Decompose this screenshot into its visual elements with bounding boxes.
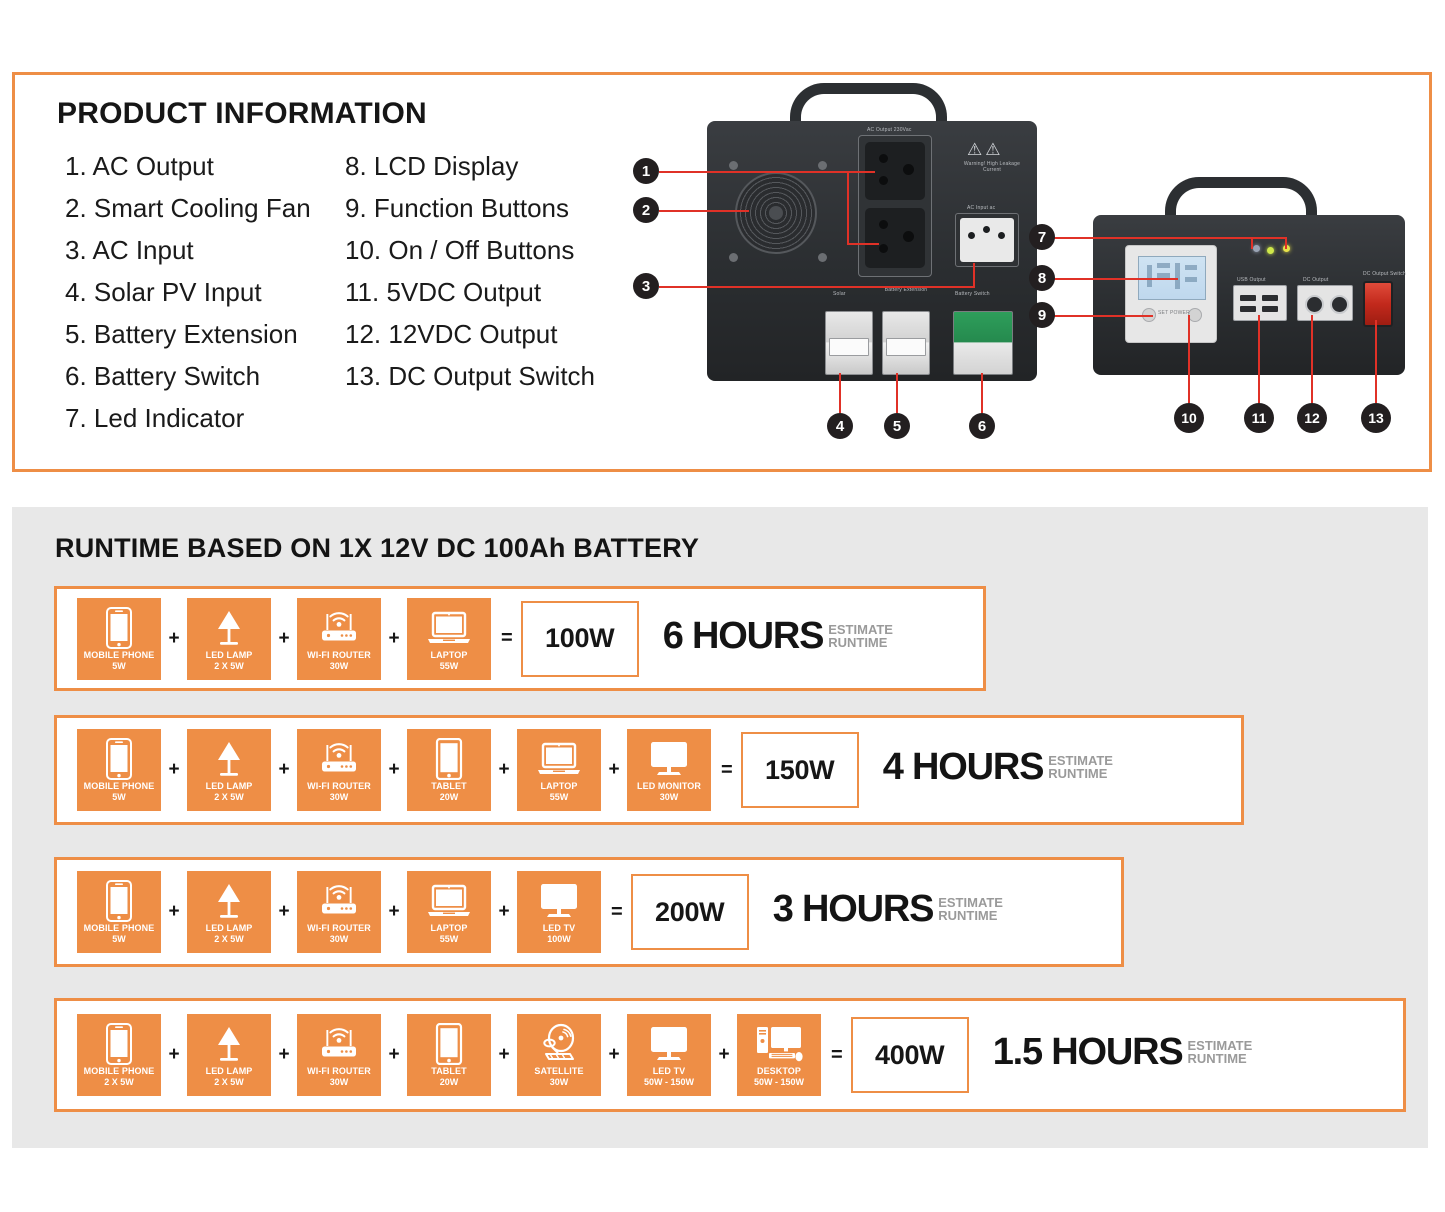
device-tile-name: LED MONITOR <box>637 781 701 792</box>
device-tile-watt: 50W - 150W <box>644 1077 694 1088</box>
device-tile: LED TV100W <box>517 871 601 953</box>
battery-switch-label: Battery Switch <box>955 291 990 297</box>
device-tile: LED LAMP2 X 5W <box>187 1014 271 1096</box>
dc-output-label: DC Output <box>1303 277 1328 283</box>
screw <box>818 161 827 170</box>
product-front-view-image: SET POWER USB Output DC Output DC Output… <box>1015 165 1435 455</box>
callout-leader-1 <box>659 171 875 173</box>
list-item: 7. Led Indicator <box>65 397 355 439</box>
runtime-row-1: MOBILE PHONE5W+ LED LAMP2 X 5W+ WI-FI RO… <box>54 586 986 691</box>
callout-badge-7: 7 <box>1029 224 1055 250</box>
mobile-phone-icon <box>77 606 161 650</box>
plus-separator: + <box>381 759 407 781</box>
dc-output-switch-label: DC Output Switch <box>1363 271 1406 277</box>
runtime-row-2: MOBILE PHONE5W+ LED LAMP2 X 5W+ WI-FI RO… <box>54 715 1244 825</box>
callout-leader-7 <box>1053 237 1253 239</box>
equals-sign: = <box>721 759 733 782</box>
device-tile: WI-FI ROUTER30W <box>297 871 381 953</box>
list-item: 1. AC Output <box>65 145 355 187</box>
device-tile: WI-FI ROUTER30W <box>297 1014 381 1096</box>
device-tile-name: LED LAMP <box>206 1066 253 1077</box>
dc-output-switch[interactable] <box>1363 281 1393 327</box>
device-tile-watt: 5W <box>112 934 126 945</box>
led-lamp-icon <box>187 606 271 650</box>
usb-5vdc-output[interactable] <box>1233 285 1287 321</box>
wifi-router-icon <box>297 1022 381 1066</box>
device-tile-watt: 2 X 5W <box>214 934 244 945</box>
screw <box>729 161 738 170</box>
ac-input-label: AC Input ac <box>967 205 995 211</box>
device-tile: LAPTOP55W <box>517 729 601 811</box>
plus-separator: + <box>491 1044 517 1066</box>
runtime-row-4: MOBILE PHONE2 X 5W+ LED LAMP2 X 5W+ WI-F… <box>54 998 1406 1112</box>
callout-leader-8 <box>1053 278 1178 280</box>
total-watt-value: 200W <box>655 897 724 928</box>
plus-separator: + <box>161 759 187 781</box>
device-tile-watt: 5W <box>112 792 126 803</box>
device-tile-watt: 50W - 150W <box>754 1077 804 1088</box>
led-indicator-1-icon <box>1253 245 1260 252</box>
plus-separator: + <box>711 1044 737 1066</box>
callout-badge-11: 11 <box>1244 403 1274 433</box>
callout-leader-9 <box>1053 315 1153 317</box>
device-tile: MOBILE PHONE5W <box>77 598 161 680</box>
total-watt-value: 100W <box>545 623 614 654</box>
device-tile-name: SATELLITE <box>534 1066 583 1077</box>
list-item: 11. 5VDC Output <box>345 271 645 313</box>
runtime-section-title: RUNTIME BASED ON 1X 12V DC 100Ah BATTERY <box>55 533 699 564</box>
runtime-hours-value: 4 HOURS <box>883 746 1044 789</box>
plus-separator: + <box>271 1044 297 1066</box>
plus-separator: + <box>161 901 187 923</box>
wifi-router-icon <box>297 606 381 650</box>
total-watt-box: 200W <box>631 874 749 950</box>
device-tile: LED LAMP2 X 5W <box>187 598 271 680</box>
callout-badge-13: 13 <box>1361 403 1391 433</box>
callout-badge-12: 12 <box>1297 403 1327 433</box>
device-tile-name: WI-FI ROUTER <box>307 923 371 934</box>
device-tile-watt: 20W <box>440 1077 459 1088</box>
runtime-hours-group: 3 HOURSESTIMATERUNTIME <box>773 888 1003 936</box>
led-indicator-2-icon <box>1267 247 1274 254</box>
callout-leader-2 <box>659 210 749 212</box>
product-list-column-right: 8. LCD Display 9. Function Buttons 10. O… <box>345 145 645 397</box>
plus-separator: + <box>601 759 627 781</box>
device-tile-watt: 20W <box>440 792 459 803</box>
infographic-page: PRODUCT INFORMATION 1. AC Output 2. Smar… <box>0 0 1445 1212</box>
list-item: 2. Smart Cooling Fan <box>65 187 355 229</box>
equals-sign: = <box>611 901 623 924</box>
runtime-hours-value: 1.5 HOURS <box>993 1031 1183 1074</box>
laptop-icon <box>407 879 491 923</box>
callout-badge-4: 4 <box>827 413 853 439</box>
total-watt-box: 100W <box>521 601 639 677</box>
ac-output-group <box>858 135 932 277</box>
callout-leader-1c <box>847 243 879 245</box>
device-tile-name: MOBILE PHONE <box>84 923 155 934</box>
lcd-bezel: SET POWER <box>1125 245 1217 343</box>
battery-extension-breaker[interactable] <box>882 311 930 375</box>
plus-separator: + <box>271 628 297 650</box>
estimate-runtime-label: ESTIMATERUNTIME <box>828 623 893 649</box>
product-information-title: PRODUCT INFORMATION <box>57 97 427 131</box>
device-tile-name: LED LAMP <box>206 650 253 661</box>
device-tile: WI-FI ROUTER30W <box>297 729 381 811</box>
callout-leader-10 <box>1188 315 1190 403</box>
led-lamp-icon <box>187 879 271 923</box>
callout-badge-9: 9 <box>1029 302 1055 328</box>
device-tile: TABLET20W <box>407 1014 491 1096</box>
runtime-section: RUNTIME BASED ON 1X 12V DC 100Ah BATTERY… <box>12 507 1428 1148</box>
total-watt-box: 400W <box>851 1017 969 1093</box>
mobile-phone-icon <box>77 1022 161 1066</box>
estimate-runtime-label: ESTIMATERUNTIME <box>1048 754 1113 780</box>
device-tile-name: LAPTOP <box>431 650 468 661</box>
led-monitor-icon <box>627 737 711 781</box>
callout-leader-3 <box>659 286 975 288</box>
list-item: 12. 12VDC Output <box>345 313 645 355</box>
device-tile-watt: 30W <box>330 934 349 945</box>
device-tile-name: LAPTOP <box>541 781 578 792</box>
callout-leader-12 <box>1311 315 1313 403</box>
product-rear-view-image: AC Output 230Vac ⚠⚠ Warning! High Leakag… <box>615 75 1035 455</box>
plus-separator: + <box>381 628 407 650</box>
tablet-icon <box>407 737 491 781</box>
device-tile: LED LAMP2 X 5W <box>187 729 271 811</box>
total-watt-value: 400W <box>875 1040 944 1071</box>
device-tile-watt: 30W <box>330 792 349 803</box>
device-tile-name: WI-FI ROUTER <box>307 781 371 792</box>
device-tile: MOBILE PHONE5W <box>77 871 161 953</box>
laptop-icon <box>517 737 601 781</box>
list-item: 9. Function Buttons <box>345 187 645 229</box>
callout-badge-5: 5 <box>884 413 910 439</box>
equals-sign: = <box>501 627 513 650</box>
callout-leader-7c <box>1251 237 1285 239</box>
plus-separator: + <box>491 901 517 923</box>
list-item: 4. Solar PV Input <box>65 271 355 313</box>
dc-12vdc-output[interactable] <box>1297 285 1353 321</box>
solar-label: Solar <box>833 291 846 297</box>
wifi-router-icon <box>297 737 381 781</box>
laptop-icon <box>407 606 491 650</box>
desktop-icon <box>737 1022 821 1066</box>
device-tile-watt: 30W <box>660 792 679 803</box>
wifi-router-icon <box>297 879 381 923</box>
ac-output-label: AC Output 230Vac <box>867 127 912 133</box>
device-tile-watt: 2 X 5W <box>214 1077 244 1088</box>
solar-pv-input-breaker[interactable] <box>825 311 873 375</box>
device-tile-watt: 5W <box>112 661 126 672</box>
device-tile-watt: 30W <box>330 1077 349 1088</box>
runtime-hours-group: 6 HOURSESTIMATERUNTIME <box>663 615 893 663</box>
device-tile-name: LED TV <box>653 1066 686 1077</box>
list-item: 10. On / Off Buttons <box>345 229 645 271</box>
device-tile-name: LED LAMP <box>206 781 253 792</box>
plus-separator: + <box>381 1044 407 1066</box>
list-item: 8. LCD Display <box>345 145 645 187</box>
callout-leader-1b <box>847 171 849 245</box>
screw <box>729 253 738 262</box>
led-tv-icon <box>627 1022 711 1066</box>
on-off-button[interactable] <box>1188 308 1202 322</box>
total-watt-group: =100W <box>501 601 639 677</box>
plus-separator: + <box>381 901 407 923</box>
plus-separator: + <box>161 628 187 650</box>
list-item: 5. Battery Extension <box>65 313 355 355</box>
device-tile-name: LED LAMP <box>206 923 253 934</box>
runtime-row-3: MOBILE PHONE5W+ LED LAMP2 X 5W+ WI-FI RO… <box>54 857 1124 967</box>
device-tile-name: MOBILE PHONE <box>84 1066 155 1077</box>
product-information-panel: PRODUCT INFORMATION 1. AC Output 2. Smar… <box>12 72 1432 472</box>
runtime-hours-value: 6 HOURS <box>663 615 824 658</box>
runtime-hours-group: 4 HOURSESTIMATERUNTIME <box>883 746 1113 794</box>
device-tile: LED TV50W - 150W <box>627 1014 711 1096</box>
callout-badge-8: 8 <box>1029 265 1055 291</box>
mobile-phone-icon <box>77 879 161 923</box>
device-tile: SATELLITE30W <box>517 1014 601 1096</box>
callout-leader-3b <box>973 263 975 287</box>
led-lamp-icon <box>187 1022 271 1066</box>
warning-triangle-icon: ⚠⚠ <box>967 141 1003 158</box>
cooling-fan-icon <box>735 172 817 254</box>
device-tile-name: LAPTOP <box>431 923 468 934</box>
usb-output-label: USB Output <box>1237 277 1266 283</box>
device-tile-watt: 2 X 5W <box>104 1077 134 1088</box>
mobile-phone-icon <box>77 737 161 781</box>
device-tile-watt: 55W <box>440 934 459 945</box>
device-tile-watt: 2 X 5W <box>214 661 244 672</box>
total-watt-value: 150W <box>765 755 834 786</box>
callout-leader-13 <box>1375 320 1377 403</box>
equals-sign: = <box>831 1044 843 1067</box>
total-watt-box: 150W <box>741 732 859 808</box>
runtime-hours-group: 1.5 HOURSESTIMATERUNTIME <box>993 1031 1253 1079</box>
plus-separator: + <box>601 1044 627 1066</box>
device-tile-watt: 30W <box>330 661 349 672</box>
device-tile-watt: 55W <box>550 792 569 803</box>
callout-badge-2: 2 <box>633 197 659 223</box>
product-list-column-left: 1. AC Output 2. Smart Cooling Fan 3. AC … <box>65 145 355 439</box>
device-tile: MOBILE PHONE2 X 5W <box>77 1014 161 1096</box>
device-tile-name: TABLET <box>431 1066 466 1077</box>
device-tile: DESKTOP50W - 150W <box>737 1014 821 1096</box>
device-tile-name: DESKTOP <box>757 1066 801 1077</box>
plus-separator: + <box>491 759 517 781</box>
device-tile-watt: 100W <box>547 934 571 945</box>
callout-leader-5 <box>896 373 898 413</box>
estimate-runtime-label: ESTIMATERUNTIME <box>1188 1039 1253 1065</box>
device-tile: LED MONITOR30W <box>627 729 711 811</box>
device-tile-watt: 2 X 5W <box>214 792 244 803</box>
device-tile: TABLET20W <box>407 729 491 811</box>
callout-badge-1: 1 <box>633 158 659 184</box>
device-tile: MOBILE PHONE5W <box>77 729 161 811</box>
callout-leader-4 <box>839 373 841 413</box>
ac-socket-bottom <box>865 208 925 268</box>
tablet-icon <box>407 1022 491 1066</box>
callout-badge-10: 10 <box>1174 403 1204 433</box>
list-item: 6. Battery Switch <box>65 355 355 397</box>
battery-switch[interactable] <box>953 311 1013 375</box>
plus-separator: + <box>271 759 297 781</box>
total-watt-group: =200W <box>611 874 749 950</box>
device-tile-name: WI-FI ROUTER <box>307 1066 371 1077</box>
total-watt-group: =150W <box>721 732 859 808</box>
device-tile: LAPTOP55W <box>407 871 491 953</box>
list-item: 13. DC Output Switch <box>345 355 645 397</box>
plus-separator: + <box>161 1044 187 1066</box>
device-tile-name: TABLET <box>431 781 466 792</box>
satellite-icon <box>517 1022 601 1066</box>
device-tile: WI-FI ROUTER30W <box>297 598 381 680</box>
device-tile-watt: 30W <box>550 1077 569 1088</box>
plus-separator: + <box>271 901 297 923</box>
total-watt-group: =400W <box>831 1017 969 1093</box>
ac-input-socket <box>955 213 1019 267</box>
callout-badge-6: 6 <box>969 413 995 439</box>
screw <box>818 253 827 262</box>
callout-leader-6 <box>981 373 983 413</box>
device-tile-name: MOBILE PHONE <box>84 650 155 661</box>
device-tile-name: WI-FI ROUTER <box>307 650 371 661</box>
estimate-runtime-label: ESTIMATERUNTIME <box>938 896 1003 922</box>
callout-badge-3: 3 <box>633 273 659 299</box>
device-tile: LAPTOP55W <box>407 598 491 680</box>
device-tile-name: LED TV <box>543 923 576 934</box>
runtime-hours-value: 3 HOURS <box>773 888 934 931</box>
led-lamp-icon <box>187 737 271 781</box>
device-tile: LED LAMP2 X 5W <box>187 871 271 953</box>
led-tv-icon <box>517 879 601 923</box>
callout-leader-11 <box>1258 315 1260 403</box>
list-item: 3. AC Input <box>65 229 355 271</box>
device-tile-name: MOBILE PHONE <box>84 781 155 792</box>
callout-leader-7d <box>1285 237 1287 249</box>
device-tile-watt: 55W <box>440 661 459 672</box>
